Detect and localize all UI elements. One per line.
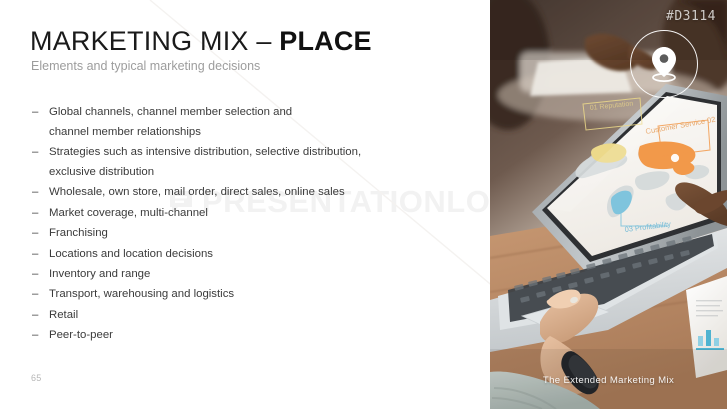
list-item: –Transport, warehousing and logistics xyxy=(31,285,451,305)
title-main: MARKETING MIX – xyxy=(30,26,279,56)
list-item: –Locations and location decisions xyxy=(31,245,451,265)
list-item-label: Market coverage, multi-channel xyxy=(49,204,451,224)
bullet-dash-icon: – xyxy=(32,183,38,203)
list-item-label: Franchising xyxy=(49,224,451,244)
list-item: –Peer-to-peer xyxy=(31,326,451,346)
bullet-dash-icon: – xyxy=(32,224,38,244)
photo-panel: 01 Reputation Customer Service 02 03 Pro… xyxy=(490,0,727,409)
bullet-dash-icon: – xyxy=(32,245,38,265)
list-item-label: Peer-to-peer xyxy=(49,326,451,346)
page-subtitle: Elements and typical marketing decisions xyxy=(31,58,260,74)
location-pin-icon xyxy=(647,45,681,83)
title-accent: PLACE xyxy=(279,26,372,56)
bullet-list: –Global channels, channel member selecti… xyxy=(31,103,451,347)
page-number: 65 xyxy=(31,373,42,383)
list-item: –Inventory and range xyxy=(31,265,451,285)
content-column: MARKETING MIX – PLACE Elements and typic… xyxy=(0,0,490,409)
location-pin-badge xyxy=(630,30,698,98)
list-item: –Market coverage, multi-channel xyxy=(31,204,451,224)
list-item-label: Strategies such as intensive distributio… xyxy=(49,143,451,183)
bullet-dash-icon: – xyxy=(32,326,38,346)
list-item-label: Transport, warehousing and logistics xyxy=(49,285,451,305)
list-item: –Strategies such as intensive distributi… xyxy=(31,143,451,183)
list-item-label: Wholesale, own store, mail order, direct… xyxy=(49,183,451,203)
list-item-label: Global channels, channel member selectio… xyxy=(49,103,451,143)
bullet-dash-icon: – xyxy=(32,143,38,163)
list-item-label: Inventory and range xyxy=(49,265,451,285)
list-item: –Retail xyxy=(31,306,451,326)
photo-caption: The Extended Marketing Mix xyxy=(490,375,727,386)
bullet-dash-icon: – xyxy=(32,306,38,326)
slide: PRESENTATIONLOAD MARKETING MIX – PLACE E… xyxy=(0,0,727,409)
list-item-label: Locations and location decisions xyxy=(49,245,451,265)
list-item: –Franchising xyxy=(31,224,451,244)
bullet-dash-icon: – xyxy=(32,285,38,305)
list-item-label: Retail xyxy=(49,306,451,326)
list-item: –Wholesale, own store, mail order, direc… xyxy=(31,183,451,203)
slide-id-code: #D3114 xyxy=(666,9,716,24)
bullet-dash-icon: – xyxy=(32,204,38,224)
bullet-dash-icon: – xyxy=(32,265,38,285)
bullet-dash-icon: – xyxy=(32,103,38,123)
page-title: MARKETING MIX – PLACE xyxy=(30,26,372,56)
list-item: –Global channels, channel member selecti… xyxy=(31,103,451,143)
